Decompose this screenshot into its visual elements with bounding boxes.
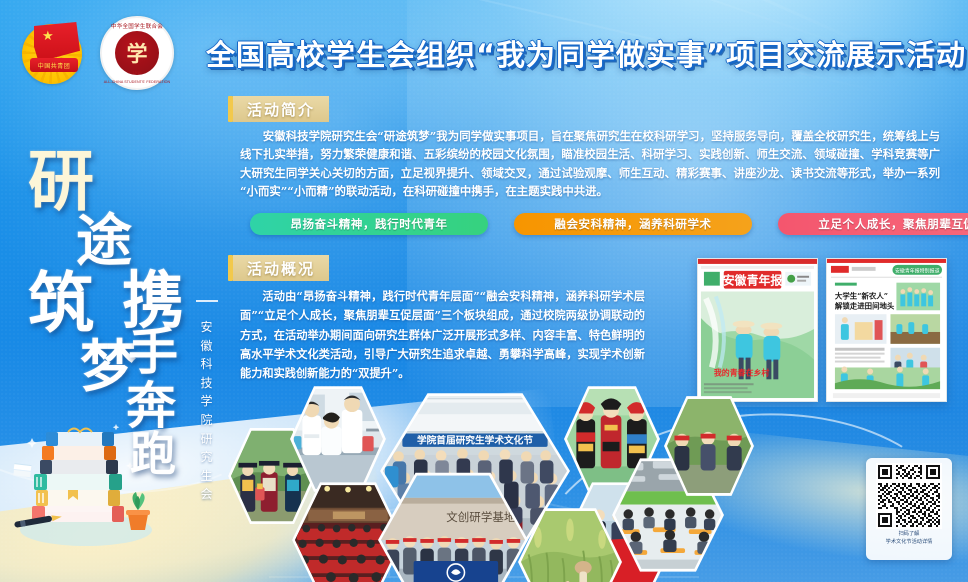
qr-caption-line-2: 学术文化节活动详情 [886, 539, 933, 547]
theme-pill-1[interactable]: 昂扬奋斗精神，践行时代青年 [250, 213, 488, 235]
section-header-overview: 活动概况 [228, 255, 329, 281]
cyl-band-label: 中国共青团 [30, 58, 78, 72]
organizer-char: 学 [196, 392, 218, 411]
newspaper-page-1[interactable]: 安徽青年报 [697, 258, 818, 402]
poster-root: ★ 中国共青团 中华全国学生联合会 学 1919 ALL-CHINA STUDE… [0, 0, 968, 582]
organizer-vertical-label: 安徽科技学院研究生会 [196, 318, 218, 504]
svg-text:文创研学基地: 文创研学基地 [446, 510, 516, 524]
theme-pill-group: 昂扬奋斗精神，践行时代青年 融会安科精神，涵养科研学术 立足个人成长，聚焦朋辈互… [250, 213, 950, 235]
acsf-top-label: 中华全国学生联合会 [102, 22, 172, 30]
newspaper-gallery: 安徽青年报 [697, 258, 947, 402]
newspaper-page-2[interactable]: 安徽青年报特别报道 大学生“新农人” 解锁走进田间地头 [826, 258, 947, 402]
svg-text:学院首届研究生学术文化节: 学院首届研究生学术文化节 [417, 435, 533, 447]
acsf-bottom-label: ALL-CHINA STUDENTS' FEDERATION [102, 80, 172, 84]
section-header-label: 活动简介 [233, 96, 329, 122]
qr-code-card[interactable]: 扫码了解 学术文化节活动详情 [866, 458, 952, 560]
svg-text:安徽青年报: 安徽青年报 [723, 274, 783, 288]
section-header-label: 活动概况 [233, 255, 329, 281]
section-header-intro: 活动简介 [228, 96, 329, 122]
acsf-year-label: 1919 [102, 70, 172, 75]
section-body-intro: 安徽科技学院研究生会“研途筑梦”我为同学做实事项目，旨在聚焦研究生在校科研学习，… [240, 127, 940, 201]
star-icon: ★ [42, 29, 55, 42]
students-federation-emblem-icon: 中华全国学生联合会 学 1919 ALL-CHINA STUDENTS' FED… [100, 16, 174, 90]
organizer-char: 生 [196, 467, 218, 486]
qr-code-icon[interactable] [876, 463, 942, 529]
svg-text:解锁走进田间地头: 解锁走进田间地头 [835, 300, 895, 310]
organizer-divider [196, 300, 218, 302]
svg-text:大学生“新农人”: 大学生“新农人” [835, 290, 888, 300]
organizer-char: 徽 [196, 337, 218, 356]
organizer-char: 会 [196, 485, 218, 504]
svg-text:我的青春在乡村: 我的青春在乡村 [714, 367, 770, 377]
organizer-char: 研 [196, 430, 218, 449]
organizer-char: 院 [196, 411, 218, 430]
theme-pill-2[interactable]: 融会安科精神，涵养科研学术 [514, 213, 752, 235]
organizer-char: 技 [196, 374, 218, 393]
organizer-char: 究 [196, 448, 218, 467]
qr-caption-line-1: 扫码了解 [886, 531, 933, 539]
section-body-overview: 活动由“昂扬奋斗精神，践行时代青年层面”“融会安科精神，涵养科研学术层面”“立足… [240, 287, 645, 383]
page-title: 全国高校学生会组织“我为同学做实事”项目交流展示活动 [206, 32, 966, 74]
communist-youth-league-emblem-icon: ★ 中国共青团 [18, 18, 88, 88]
logo-group: ★ 中国共青团 中华全国学生联合会 学 1919 ALL-CHINA STUDE… [18, 16, 174, 90]
qr-caption: 扫码了解 学术文化节活动详情 [886, 531, 933, 547]
calligraphy-char-pao: 跑 [130, 418, 176, 484]
acsf-center-glyph: 学 [115, 31, 159, 75]
organizer-char: 科 [196, 355, 218, 374]
hex-photo-collage: 学院首届研究生学术文化节 [228, 384, 868, 574]
theme-pill-3[interactable]: 立足个人成长，聚焦朋辈互促 [778, 213, 968, 235]
organizer-char: 安 [196, 318, 218, 337]
svg-text:安徽青年报特别报道: 安徽青年报特别报道 [895, 267, 940, 274]
